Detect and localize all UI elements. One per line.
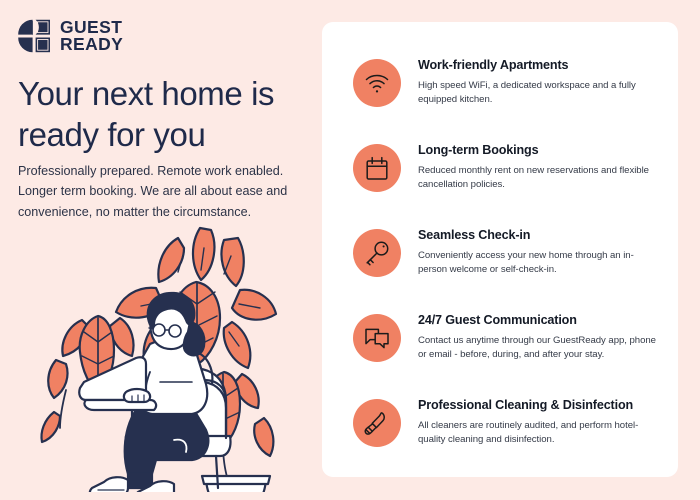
chat-bubbles-icon	[353, 314, 401, 362]
broom-icon	[353, 399, 401, 447]
feature-title: Work-friendly Apartments	[418, 58, 660, 74]
feature-item-long-term-bookings[interactable]: Long-term Bookings Reduced monthly rent …	[322, 142, 678, 192]
left-column: GUEST READY Your next home is ready for …	[0, 0, 320, 500]
feature-title: 24/7 Guest Communication	[418, 313, 660, 329]
feature-title: Seamless Check-in	[418, 228, 660, 244]
feature-item-guest-communication[interactable]: 24/7 Guest Communication Contact us anyt…	[322, 312, 678, 362]
feature-text: 24/7 Guest Communication Contact us anyt…	[418, 312, 660, 362]
feature-description: Contact us anytime through our GuestRead…	[418, 334, 660, 362]
feature-title: Long-term Bookings	[418, 143, 660, 159]
wifi-icon	[353, 59, 401, 107]
feature-description: Conveniently access your new home throug…	[418, 249, 660, 277]
feature-description: Reduced monthly rent on new reservations…	[418, 164, 660, 192]
page-title: Your next home is ready for you	[18, 74, 308, 156]
brand-name-line-2: READY	[60, 36, 123, 53]
feature-text: Seamless Check-in Conveniently access yo…	[418, 227, 660, 277]
promo-page: GUEST READY Your next home is ready for …	[0, 0, 700, 500]
features-panel: Work-friendly Apartments High speed WiFi…	[322, 22, 678, 477]
hero-subcopy: Professionally prepared. Remote work ena…	[18, 161, 293, 222]
feature-description: All cleaners are routinely audited, and …	[418, 419, 660, 447]
feature-text: Professional Cleaning & Disinfection All…	[418, 397, 660, 447]
feature-text: Long-term Bookings Reduced monthly rent …	[418, 142, 660, 192]
feature-item-work-friendly-apartments[interactable]: Work-friendly Apartments High speed WiFi…	[322, 57, 678, 107]
brand-wordmark: GUEST READY	[60, 19, 123, 54]
feature-item-cleaning-disinfection[interactable]: Professional Cleaning & Disinfection All…	[322, 397, 678, 447]
brand-logo[interactable]: GUEST READY	[17, 19, 123, 54]
hero-illustration	[28, 222, 313, 492]
feature-item-seamless-check-in[interactable]: Seamless Check-in Conveniently access yo…	[322, 227, 678, 277]
guestready-logo-mark-icon	[17, 19, 51, 53]
feature-text: Work-friendly Apartments High speed WiFi…	[418, 57, 660, 107]
feature-list: Work-friendly Apartments High speed WiFi…	[322, 22, 678, 447]
calendar-icon	[353, 144, 401, 192]
feature-title: Professional Cleaning & Disinfection	[418, 398, 660, 414]
feature-description: High speed WiFi, a dedicated workspace a…	[418, 79, 660, 107]
key-icon	[353, 229, 401, 277]
